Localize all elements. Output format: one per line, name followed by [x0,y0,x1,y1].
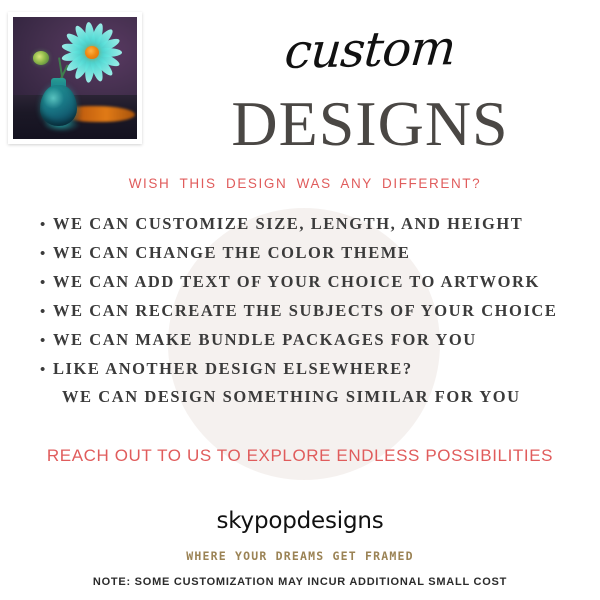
bullet-dot-icon: • [40,247,53,262]
bullet-item-label: WE CAN ADD TEXT OF YOUR CHOICE TO ARTWOR… [53,272,580,292]
artwork-flower-bud [33,51,49,64]
feature-bullet-list: •WE CAN CUSTOMIZE SIZE, LENGTH, AND HEIG… [40,214,580,411]
bullet-item: •WE CAN RECREATE THE SUBJECTS OF YOUR CH… [40,301,580,321]
bullet-item: •WE CAN ADD TEXT OF YOUR CHOICE TO ARTWO… [40,272,580,292]
bullet-dot-icon: • [40,305,53,320]
call-to-action-text: REACH OUT TO US TO EXPLORE ENDLESS POSSI… [20,446,580,466]
bullet-item: •WE CAN MAKE BUNDLE PACKAGES FOR YOU [40,330,580,350]
artwork-flower [58,24,127,83]
headline-serif-word: DESIGNS [150,92,590,156]
bullet-dot-icon: • [40,218,53,233]
headline-subtitle: WISH THIS DESIGN WAS ANY DIFFERENT? [60,176,550,191]
brand-tagline: WHERE YOUR DREAMS GET FRAMED [0,549,600,563]
footer-note: NOTE: SOME CUSTOMIZATION MAY INCUR ADDIT… [0,576,600,588]
bullet-item: •LIKE ANOTHER DESIGN ELSEWHERE? [40,359,580,379]
bullet-item: •WE CAN CHANGE THE COLOR THEME [40,243,580,263]
bullet-item-label: WE CAN CHANGE THE COLOR THEME [53,243,580,263]
artwork-thumbnail[interactable] [8,12,142,144]
bullet-item-label: WE CAN CUSTOMIZE SIZE, LENGTH, AND HEIGH… [53,214,580,234]
headline-script-word: custom [148,17,593,82]
bullet-item-label: LIKE ANOTHER DESIGN ELSEWHERE? [53,359,580,379]
bullet-dot-icon: • [40,276,53,291]
bullet-dot-icon: • [40,363,53,378]
artwork-image [13,17,137,139]
bullet-item: •WE CAN DESIGN SOMETHING SIMILAR FOR YOU [40,387,580,407]
bullet-item-label: WE CAN DESIGN SOMETHING SIMILAR FOR YOU [53,387,580,407]
brand-name: skypopdesigns [0,508,600,534]
bullet-dot-icon: • [40,334,53,349]
artwork-vase [40,85,77,125]
bullet-item-label: WE CAN MAKE BUNDLE PACKAGES FOR YOU [53,330,580,350]
bullet-item-label: WE CAN RECREATE THE SUBJECTS OF YOUR CHO… [53,301,580,321]
bullet-item: •WE CAN CUSTOMIZE SIZE, LENGTH, AND HEIG… [40,214,580,234]
